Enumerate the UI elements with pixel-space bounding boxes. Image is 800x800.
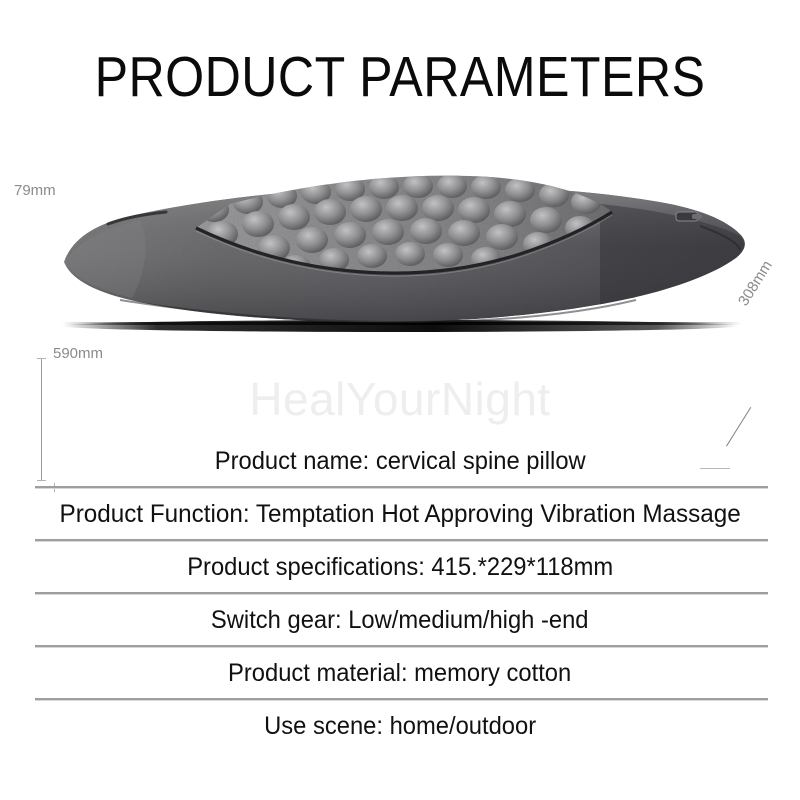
spec-text-switch-gear: Switch gear: Low/medium/high -end xyxy=(211,606,589,635)
spec-row-product-material: Product material: memory cotton xyxy=(0,648,800,698)
spec-row-product-specifications: Product specifications: 415.*229*118mm xyxy=(0,542,800,592)
width-dimension-label: 590mm xyxy=(53,345,103,362)
height-dimension-tick-top xyxy=(37,358,46,359)
spec-text-product-name: Product name: cervical spine pillow xyxy=(215,447,586,476)
spec-row-product-function: Product Function: Temptation Hot Approvi… xyxy=(0,489,800,539)
specifications-table: Product name: cervical spine pillow Prod… xyxy=(0,436,800,751)
pillow-illustration xyxy=(0,150,800,400)
spec-row-use-scene: Use scene: home/outdoor xyxy=(0,701,800,751)
height-dimension-label: 79mm xyxy=(14,182,56,199)
spec-text-use-scene: Use scene: home/outdoor xyxy=(264,712,536,741)
spec-text-product-specifications: Product specifications: 415.*229*118mm xyxy=(187,553,613,582)
brand-watermark: HealYourNight xyxy=(0,372,800,426)
product-parameters-page: PRODUCT PARAMETERS xyxy=(0,0,800,800)
spec-row-product-name: Product name: cervical spine pillow xyxy=(0,436,800,486)
spec-row-switch-gear: Switch gear: Low/medium/high -end xyxy=(0,595,800,645)
product-photo xyxy=(0,150,800,400)
spec-text-product-function: Product Function: Temptation Hot Approvi… xyxy=(59,500,740,529)
zipper-pull xyxy=(676,212,702,221)
spec-text-product-material: Product material: memory cotton xyxy=(228,659,571,688)
page-title: PRODUCT PARAMETERS xyxy=(48,44,752,110)
